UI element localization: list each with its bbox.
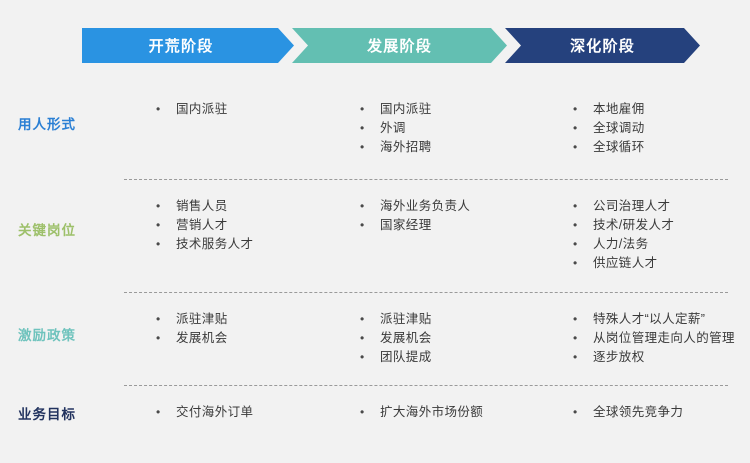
list-item: 销售人员 — [152, 197, 334, 216]
matrix-row-2: 激励政策 派驻津贴 发展机会 派驻津贴 发展机会 团队提成 — [0, 292, 750, 385]
row-label-1: 关键岗位 — [0, 197, 124, 239]
bullet-list-1-0: 销售人员 营销人才 技术服务人才 — [152, 197, 334, 254]
cell-0-0: 国内派驻 — [124, 100, 334, 157]
phase-chevron-bar: 开荒阶段 发展阶段 深化阶段 — [82, 28, 700, 63]
list-item: 全球调动 — [569, 119, 749, 138]
list-item: 扩大海外市场份额 — [356, 403, 549, 422]
list-item: 派驻津贴 — [152, 310, 334, 329]
phase-label-2: 深化阶段 — [570, 35, 635, 56]
cell-2-2: 特殊人才“以人定薪” 从岗位管理走向人的管理 逐步放权 — [549, 310, 749, 367]
row-divider-2 — [124, 292, 728, 293]
cell-3-1: 扩大海外市场份额 — [334, 403, 549, 422]
list-item: 海外业务负责人 — [356, 197, 549, 216]
list-item: 营销人才 — [152, 216, 334, 235]
cell-2-0: 派驻津贴 发展机会 — [124, 310, 334, 367]
row-cells-3: 交付海外订单 扩大海外市场份额 全球领先竞争力 — [124, 403, 750, 422]
phase-label-1: 发展阶段 — [367, 35, 432, 56]
row-cells-0: 国内派驻 国内派驻 外调 海外招聘 本地雇佣 全球调动 全球循环 — [124, 100, 750, 157]
list-item: 派驻津贴 — [356, 310, 549, 329]
bullet-list-3-1: 扩大海外市场份额 — [356, 403, 549, 422]
cell-3-0: 交付海外订单 — [124, 403, 334, 422]
cell-0-2: 本地雇佣 全球调动 全球循环 — [549, 100, 749, 157]
bullet-list-2-0: 派驻津贴 发展机会 — [152, 310, 334, 348]
list-item: 全球领先竞争力 — [569, 403, 749, 422]
list-item: 供应链人才 — [569, 254, 749, 273]
row-divider-1 — [124, 179, 728, 180]
slide-canvas: 开荒阶段 发展阶段 深化阶段 用人形式 国内派驻 国内派驻 外调 — [0, 0, 750, 422]
list-item: 国内派驻 — [356, 100, 549, 119]
cell-1-2: 公司治理人才 技术/研发人才 人力/法务 供应链人才 — [549, 197, 749, 273]
list-item: 技术服务人才 — [152, 235, 334, 254]
bullet-list-2-2: 特殊人才“以人定薪” 从岗位管理走向人的管理 逐步放权 — [569, 310, 749, 367]
cell-2-1: 派驻津贴 发展机会 团队提成 — [334, 310, 549, 367]
list-item: 本地雇佣 — [569, 100, 749, 119]
row-cells-2: 派驻津贴 发展机会 派驻津贴 发展机会 团队提成 特殊人才“以人定薪” 从岗位管… — [124, 310, 750, 367]
list-item: 技术/研发人才 — [569, 216, 749, 235]
cell-1-1: 海外业务负责人 国家经理 — [334, 197, 549, 273]
list-item: 交付海外订单 — [152, 403, 334, 422]
list-item: 发展机会 — [356, 329, 549, 348]
bullet-list-1-2: 公司治理人才 技术/研发人才 人力/法务 供应链人才 — [569, 197, 749, 273]
bullet-list-3-0: 交付海外订单 — [152, 403, 334, 422]
list-item: 从岗位管理走向人的管理 — [569, 329, 749, 348]
list-item: 特殊人才“以人定薪” — [569, 310, 749, 329]
list-item: 全球循环 — [569, 138, 749, 157]
bullet-list-3-2: 全球领先竞争力 — [569, 403, 749, 422]
matrix-row-3: 业务目标 交付海外订单 扩大海外市场份额 全球领先竞争力 — [0, 385, 750, 463]
phase-segment-1[interactable]: 发展阶段 — [292, 28, 507, 63]
list-item: 国家经理 — [356, 216, 549, 235]
cell-1-0: 销售人员 营销人才 技术服务人才 — [124, 197, 334, 273]
list-item: 国内派驻 — [152, 100, 334, 119]
bullet-list-2-1: 派驻津贴 发展机会 团队提成 — [356, 310, 549, 367]
list-item: 人力/法务 — [569, 235, 749, 254]
row-label-0: 用人形式 — [0, 100, 124, 133]
list-item: 外调 — [356, 119, 549, 138]
bullet-list-1-1: 海外业务负责人 国家经理 — [356, 197, 549, 235]
matrix-rows: 用人形式 国内派驻 国内派驻 外调 海外招聘 本地雇佣 — [0, 80, 750, 463]
row-cells-1: 销售人员 营销人才 技术服务人才 海外业务负责人 国家经理 公司治理人才 技术/… — [124, 197, 750, 273]
row-label-3: 业务目标 — [0, 403, 124, 423]
matrix-row-0: 用人形式 国内派驻 国内派驻 外调 海外招聘 本地雇佣 — [0, 80, 750, 179]
bullet-list-0-0: 国内派驻 — [152, 100, 334, 119]
phase-label-0: 开荒阶段 — [149, 35, 214, 56]
bullet-list-0-1: 国内派驻 外调 海外招聘 — [356, 100, 549, 157]
row-divider-3 — [124, 385, 728, 386]
cell-3-2: 全球领先竞争力 — [549, 403, 749, 422]
phase-segment-0[interactable]: 开荒阶段 — [82, 28, 294, 63]
list-item: 发展机会 — [152, 329, 334, 348]
bullet-list-0-2: 本地雇佣 全球调动 全球循环 — [569, 100, 749, 157]
list-item: 团队提成 — [356, 348, 549, 367]
list-item: 公司治理人才 — [569, 197, 749, 216]
matrix-row-1: 关键岗位 销售人员 营销人才 技术服务人才 海外业务负责人 国家经理 — [0, 179, 750, 292]
cell-0-1: 国内派驻 外调 海外招聘 — [334, 100, 549, 157]
row-label-2: 激励政策 — [0, 310, 124, 344]
list-item: 海外招聘 — [356, 138, 549, 157]
phase-segment-2[interactable]: 深化阶段 — [505, 28, 700, 63]
list-item: 逐步放权 — [569, 348, 749, 367]
